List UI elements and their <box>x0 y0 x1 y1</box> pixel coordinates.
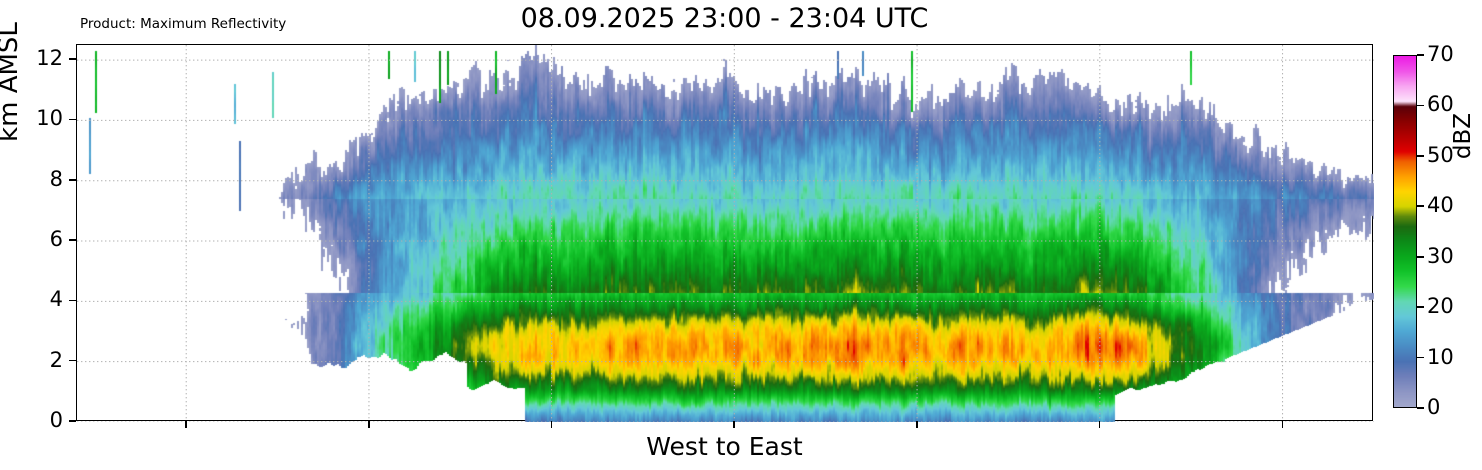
colorbar-tick-mark <box>1417 256 1424 258</box>
x-tick-mark <box>916 421 918 428</box>
colorbar[interactable] <box>1393 55 1417 408</box>
x-tick-mark <box>551 421 553 428</box>
plot-area[interactable] <box>76 44 1373 421</box>
radar-cross-section-figure: 08.09.2025 23:00 - 23:04 UTC Product: Ma… <box>0 0 1482 470</box>
colorbar-tick-label: 10 <box>1427 347 1454 368</box>
y-tick-label: 8 <box>50 169 63 190</box>
x-tick-mark <box>1099 421 1101 428</box>
colorbar-tick-mark <box>1417 306 1424 308</box>
x-axis-label: West to East <box>76 432 1373 462</box>
y-tick-mark <box>69 360 76 362</box>
colorbar-gradient <box>1393 55 1417 408</box>
colorbar-tick-label: 70 <box>1427 44 1454 65</box>
y-tick-mark <box>69 179 76 181</box>
y-tick-label: 4 <box>50 289 63 310</box>
colorbar-tick-mark <box>1417 54 1424 56</box>
colorbar-tick-label: 0 <box>1427 397 1440 418</box>
x-tick-mark <box>185 421 187 428</box>
colorbar-unit-label: dBZ <box>1452 76 1475 196</box>
colorbar-tick-label: 20 <box>1427 296 1454 317</box>
colorbar-tick-label: 40 <box>1427 195 1454 216</box>
y-tick-mark <box>69 420 76 422</box>
y-tick-label: 6 <box>50 229 63 250</box>
product-annotation: Product: Maximum Reflectivity <box>80 16 286 32</box>
colorbar-tick-mark <box>1417 407 1424 409</box>
y-tick-mark <box>69 58 76 60</box>
y-tick-label: 12 <box>36 48 63 69</box>
colorbar-tick-label: 30 <box>1427 246 1454 267</box>
y-tick-label: 2 <box>50 350 63 371</box>
colorbar-tick-mark <box>1417 155 1424 157</box>
y-tick-label: 10 <box>36 108 63 129</box>
y-axis-label: km AMSL <box>0 0 22 232</box>
reflectivity-heatmap <box>77 45 1374 422</box>
y-tick-label: 0 <box>50 410 63 431</box>
y-tick-mark <box>69 300 76 302</box>
y-tick-mark <box>69 239 76 241</box>
colorbar-tick-mark <box>1417 105 1424 107</box>
x-tick-mark <box>1282 421 1284 428</box>
colorbar-tick-mark <box>1417 357 1424 359</box>
x-tick-mark <box>368 421 370 428</box>
colorbar-tick-mark <box>1417 205 1424 207</box>
y-tick-mark <box>69 119 76 121</box>
x-tick-mark <box>733 421 735 428</box>
